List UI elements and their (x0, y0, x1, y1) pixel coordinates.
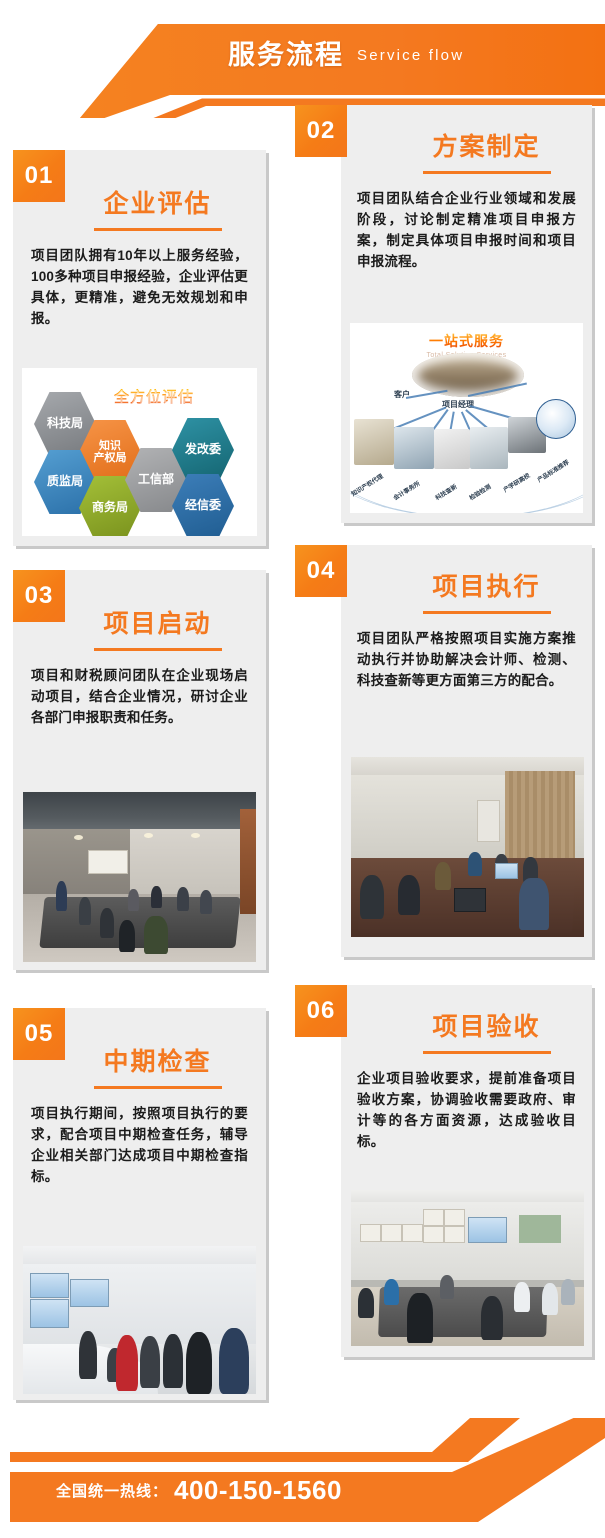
title-underline (94, 1086, 222, 1089)
card-06-header: 项目验收 (341, 985, 592, 1054)
photo-wood-panel (240, 809, 256, 914)
photo-person (384, 1279, 399, 1305)
hex-label: 商务局 (92, 501, 128, 514)
card-01[interactable]: 企业评估 项目团队拥有10年以上服务经验，100多种项目申报经验，企业评估更具体… (13, 150, 266, 546)
hexagon-diagram-title: 全方位评估 (114, 386, 194, 407)
oss-title: 一站式服务 (350, 331, 583, 351)
title-underline (423, 171, 551, 174)
card-01-number: 01 (25, 162, 54, 190)
photo-person (519, 878, 549, 930)
page-footer: 全国统一热线： 400-150-1560 (0, 1418, 605, 1538)
card-01-body: 项目团队拥有10年以上服务经验，100多种项目申报经验，企业评估更具体，更精准，… (31, 245, 248, 329)
card-02-title: 方案制定 (432, 127, 540, 168)
photo-person (140, 1336, 160, 1388)
card-06-number-badge: 06 (295, 985, 347, 1037)
oss-node-ip (354, 419, 394, 465)
meeting-room-photo (23, 792, 256, 962)
photo-certificate (423, 1226, 444, 1244)
oss-center-photo (412, 353, 524, 397)
photo-certificate (402, 1224, 423, 1242)
photo-curtain (505, 771, 575, 865)
card-03-number-badge: 03 (13, 570, 65, 622)
card-04-number: 04 (307, 557, 336, 585)
card-05-number-badge: 05 (13, 1008, 65, 1060)
card-05[interactable]: 中期检查 项目执行期间，按照项目执行的要求，配合项目中期检查任务，辅导企业相关部… (13, 1008, 266, 1400)
oss-node-standard-seal (536, 399, 576, 439)
photo-person (360, 875, 384, 919)
card-05-title: 中期检查 (103, 1042, 211, 1083)
photo-light (144, 833, 153, 838)
hex-label: 知识 产权局 (94, 440, 127, 464)
title-underline (94, 648, 222, 651)
photo-person (542, 1283, 558, 1315)
card-06-title: 项目验收 (432, 1007, 540, 1048)
photo-certificate (444, 1209, 465, 1227)
photo-ac-unit (477, 800, 500, 842)
photo-person (163, 1334, 183, 1388)
working-session-photo (351, 757, 584, 937)
photo-person (514, 1282, 530, 1312)
photo-person (435, 862, 451, 890)
photo-certificate (444, 1226, 465, 1244)
photo-person-red-coat (116, 1335, 138, 1391)
photo-person (561, 1279, 575, 1305)
page-header: 服务流程 Service flow (0, 0, 605, 118)
card-02[interactable]: 方案制定 项目团队结合企业行业领域和发展阶段，讨论制定精准项目申报方案，制定具体… (341, 105, 592, 523)
photo-display-screen (70, 1279, 109, 1308)
hex-label: 科技局 (47, 417, 83, 430)
photo-person (398, 875, 420, 915)
card-01-title: 企业评估 (103, 184, 211, 225)
photo-person (56, 881, 67, 911)
oss-label-customer: 客户 (394, 389, 410, 400)
oss-node-accounting (394, 427, 434, 469)
title-underline (423, 1051, 551, 1054)
card-04-body: 项目团队严格按照项目实施方案推动执行并协助解决会计师、检测、科技查新等更方面第三… (357, 628, 576, 691)
card-02-number: 02 (307, 117, 336, 145)
card-06[interactable]: 项目验收 企业项目验收要求，提前准备项目验收方案，协调验收需要政府、审计等的各方… (341, 985, 592, 1357)
card-02-body: 项目团队结合企业行业领域和发展阶段，讨论制定精准项目申报方案，制定具体项目申报时… (357, 188, 576, 272)
photo-laptop (454, 888, 486, 912)
footer-banner-shape (0, 1418, 605, 1538)
hex-label: 工信部 (138, 473, 174, 486)
card-02-number-badge: 02 (295, 105, 347, 157)
card-03-title: 项目启动 (103, 604, 211, 645)
photo-person (100, 908, 114, 938)
photo-person (151, 886, 162, 908)
card-03-number: 03 (25, 582, 54, 610)
acceptance-meeting-photo (351, 1190, 584, 1346)
card-06-number: 06 (307, 997, 336, 1025)
card-04[interactable]: 项目执行 项目团队严格按照项目实施方案推动执行并协助解决会计师、检测、科技查新等… (341, 545, 592, 957)
photo-person (481, 1296, 503, 1340)
photo-certificate (360, 1224, 381, 1242)
hex-label: 发改委 (185, 443, 221, 456)
card-05-body: 项目执行期间，按照项目执行的要求，配合项目中期检查任务，辅导企业相关部门达成项目… (31, 1103, 248, 1187)
card-04-title: 项目执行 (432, 567, 540, 608)
photo-person (200, 890, 212, 914)
photo-person (128, 889, 139, 911)
photo-green-board (519, 1215, 561, 1243)
photo-person (186, 1332, 212, 1394)
showroom-visit-photo (23, 1246, 256, 1394)
photo-person (79, 1331, 97, 1379)
oss-node-testing (470, 427, 508, 469)
card-03-body: 项目和财税顾问团队在企业现场启动项目，结合企业情况，研讨企业各部门申报职责和任务… (31, 665, 248, 728)
photo-person (119, 920, 135, 952)
photo-person (440, 1275, 454, 1299)
photo-person (468, 852, 482, 876)
card-01-number-badge: 01 (13, 150, 65, 202)
service-flow-infographic: 服务流程 Service flow 企业评估 项目团队拥有10年以上服务经验，1… (0, 0, 605, 1538)
photo-person (144, 916, 168, 954)
photo-light (74, 835, 83, 840)
card-04-header: 项目执行 (341, 545, 592, 614)
photo-person (358, 1288, 374, 1318)
photo-person (79, 897, 91, 925)
photo-display-screen (30, 1299, 69, 1328)
photo-display-screen (30, 1273, 69, 1299)
photo-person (177, 887, 189, 911)
photo-light (191, 833, 200, 838)
card-02-header: 方案制定 (341, 105, 592, 174)
photo-person (219, 1328, 249, 1394)
hexagon-assessment-diagram: 全方位评估 科技局 知识 产权局 质监局 商务局 工信部 发改委 (22, 368, 257, 536)
one-stop-service-diagram: 一站式服务 Total Solution Services 客户 项目经理 (350, 323, 583, 513)
hex-label: 经信委 (185, 499, 221, 512)
card-03[interactable]: 项目启动 项目和财税顾问团队在企业现场启动项目，结合企业情况，研讨企业各部门申报… (13, 570, 266, 970)
oss-node-novelty (434, 429, 470, 469)
photo-whiteboard (88, 850, 127, 874)
photo-laptop (495, 863, 518, 879)
title-underline (94, 228, 222, 231)
hex-label: 质监局 (47, 475, 83, 488)
title-underline (423, 611, 551, 614)
photo-person (407, 1293, 433, 1343)
card-04-number-badge: 04 (295, 545, 347, 597)
photo-projection-screen (468, 1217, 507, 1244)
header-banner-shape (0, 0, 605, 118)
card-05-number: 05 (25, 1020, 54, 1048)
photo-certificate (381, 1224, 402, 1242)
card-06-body: 企业项目验收要求，提前准备项目验收方案，协调验收需要政府、审计等的各方面资源，达… (357, 1068, 576, 1152)
photo-certificate (423, 1209, 444, 1227)
